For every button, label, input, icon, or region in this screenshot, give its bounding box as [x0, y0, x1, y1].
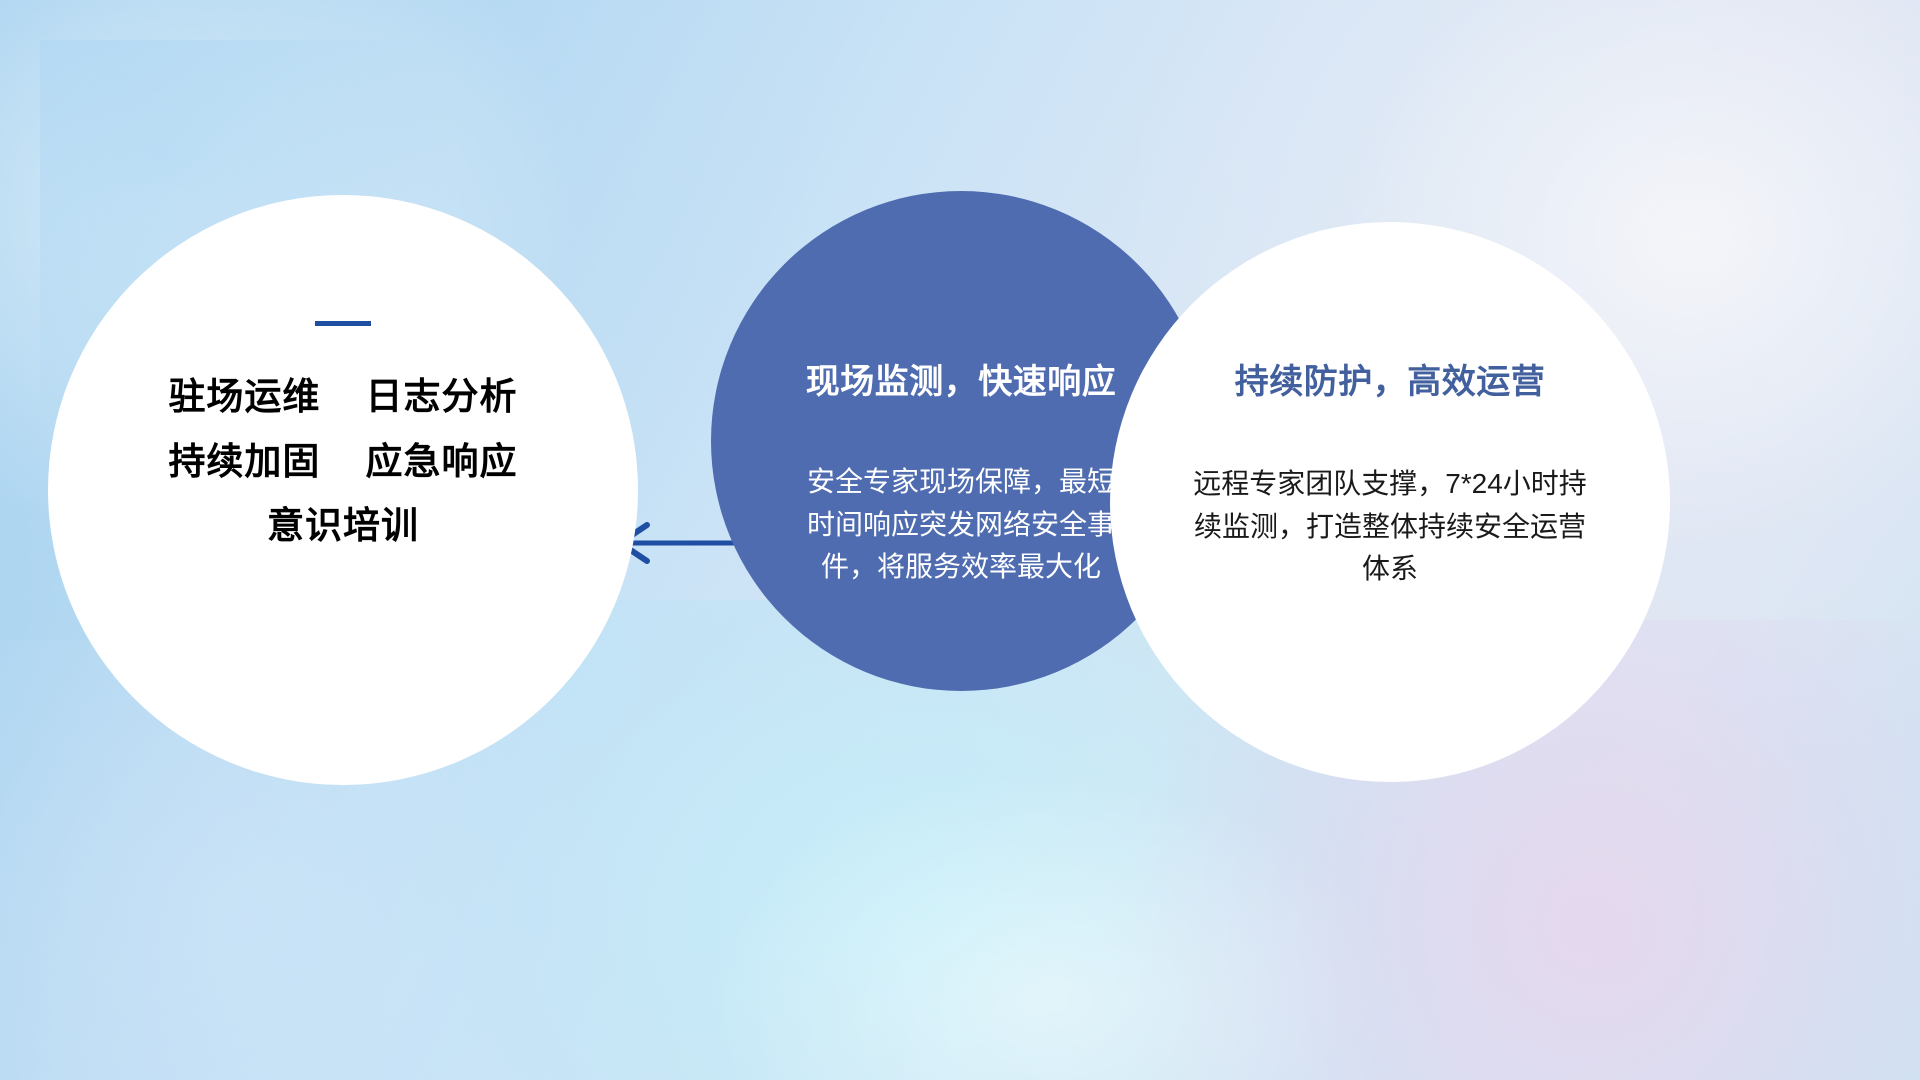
slide-canvas: 驻场运维 日志分析 持续加固 应急响应 意识培训 现场监测，快速响应 安全专家现…	[0, 0, 1920, 1080]
right-circle-body: 远程专家团队支撑，7*24小时持续监测，打造整体持续安全运营体系	[1190, 463, 1590, 591]
left-circle-text-group: 驻场运维 日志分析 持续加固 应急响应 意识培训	[168, 376, 517, 548]
left-circle-line-2: 持续加固 应急响应	[168, 441, 517, 484]
right-circle-title: 持续防护，高效运营	[1235, 354, 1546, 403]
middle-circle-title: 现场监测，快速响应	[806, 354, 1117, 403]
middle-circle-body: 安全专家现场保障，最短时间响应突发网络安全事件，将服务效率最大化	[796, 461, 1126, 589]
left-circle-line-1: 驻场运维 日志分析	[168, 376, 517, 419]
left-capability-circle[interactable]: 驻场运维 日志分析 持续加固 应急响应 意识培训	[48, 195, 638, 785]
right-operations-circle[interactable]: 持续防护，高效运营 远程专家团队支撑，7*24小时持续监测，打造整体持续安全运营…	[1110, 222, 1670, 782]
left-circle-line-3: 意识培训	[267, 505, 419, 548]
left-circle-divider	[315, 321, 371, 326]
